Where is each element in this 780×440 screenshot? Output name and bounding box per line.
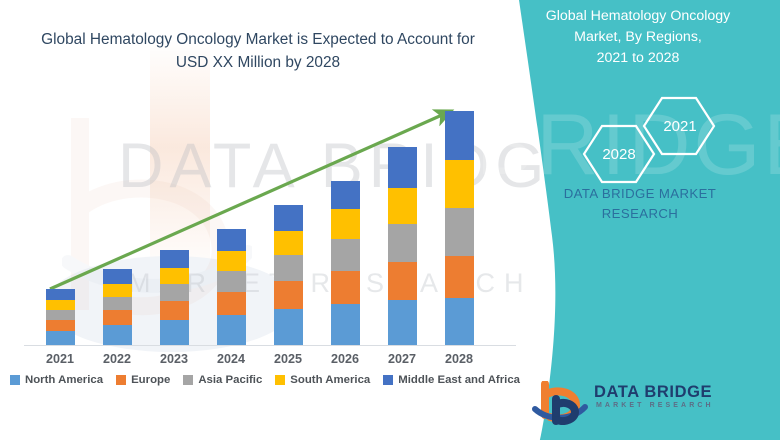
x-axis-tick-label: 2021 <box>30 352 90 366</box>
side-panel-brand-line-1: DATA BRIDGE MARKET <box>522 184 758 204</box>
bar-segment-middle-east-and-africa <box>160 250 189 268</box>
legend-label: South America <box>290 374 370 386</box>
x-axis-line <box>24 345 516 346</box>
bar-segment-middle-east-and-africa <box>217 229 246 251</box>
bar-segment-north-america <box>217 315 246 345</box>
x-axis-tick-label: 2028 <box>429 352 489 366</box>
bar-segment-south-america <box>388 188 417 224</box>
bar-group <box>217 229 246 345</box>
footer-logo-tagline: MARKET RESEARCH <box>596 402 714 409</box>
stacked-bar-chart: 2021 2022 2023 2024 2025 2026 2027 2028 … <box>0 0 530 400</box>
bar-segment-europe <box>103 310 132 325</box>
bar-segment-middle-east-and-africa <box>445 111 474 160</box>
hexagon-shapes-icon <box>566 88 756 198</box>
bar-segment-asia-pacific <box>388 224 417 262</box>
bar-segment-europe <box>445 256 474 298</box>
x-axis-tick-label: 2026 <box>315 352 375 366</box>
hexagon-label-2021: 2021 <box>658 118 702 135</box>
x-axis-tick-label: 2024 <box>201 352 261 366</box>
bar-segment-asia-pacific <box>46 310 75 320</box>
bar-group <box>274 205 303 345</box>
side-panel-title-line-3: 2021 to 2028 <box>514 48 762 69</box>
bar-segment-europe <box>274 281 303 309</box>
legend-swatch-icon <box>10 375 20 385</box>
bar-group <box>46 289 75 345</box>
bar-segment-north-america <box>46 331 75 345</box>
bar-group <box>331 181 360 345</box>
bar-segment-south-america <box>274 231 303 255</box>
bar-segment-europe <box>160 301 189 320</box>
footer-logo-name: DATA BRIDGE <box>594 383 712 402</box>
bar-segment-asia-pacific <box>274 255 303 281</box>
x-axis-tick-label: 2023 <box>144 352 204 366</box>
bar-segment-asia-pacific <box>160 284 189 301</box>
bar-group <box>445 111 474 345</box>
side-panel: BRIDGE Global Hematology Oncology Market… <box>490 0 780 440</box>
bar-segment-europe <box>46 320 75 331</box>
bar-group <box>160 250 189 345</box>
side-panel-brand-line-2: RESEARCH <box>522 204 758 224</box>
bar-segment-asia-pacific <box>445 208 474 256</box>
side-panel-brand: DATA BRIDGE MARKET RESEARCH <box>522 184 758 224</box>
data-bridge-logo-icon <box>532 381 588 425</box>
legend-swatch-icon <box>275 375 285 385</box>
bar-segment-north-america <box>103 325 132 345</box>
bar-segment-south-america <box>445 160 474 208</box>
bar-segment-south-america <box>160 268 189 284</box>
bar-segment-north-america <box>274 309 303 345</box>
side-panel-title-line-2: Market, By Regions, <box>514 27 762 48</box>
bar-segment-north-america <box>331 304 360 345</box>
side-panel-title: Global Hematology Oncology Market, By Re… <box>514 6 762 69</box>
legend-item-asia-pacific[interactable]: Asia Pacific <box>183 374 262 386</box>
infographic-canvas: DATA BRIDGE MARKET RESEARCH Global Hemat… <box>0 0 780 440</box>
legend-label: North America <box>25 374 103 386</box>
bar-segment-north-america <box>388 300 417 345</box>
bar-segment-europe <box>331 271 360 304</box>
legend-label: Asia Pacific <box>198 374 262 386</box>
bar-segment-south-america <box>331 209 360 239</box>
x-axis-tick-label: 2025 <box>258 352 318 366</box>
bar-group <box>103 269 132 345</box>
bar-segment-south-america <box>217 251 246 271</box>
bar-group <box>388 147 417 345</box>
bar-segment-middle-east-and-africa <box>103 269 132 284</box>
footer-logo: DATA BRIDGE MARKET RESEARCH <box>532 381 747 427</box>
bar-segment-europe <box>217 292 246 315</box>
bar-segment-asia-pacific <box>331 239 360 271</box>
bar-segment-europe <box>388 262 417 300</box>
bar-segment-asia-pacific <box>217 271 246 292</box>
bar-segment-middle-east-and-africa <box>46 289 75 300</box>
hexagon-label-2028: 2028 <box>597 146 641 163</box>
legend-swatch-icon <box>183 375 193 385</box>
bar-segment-middle-east-and-africa <box>274 205 303 231</box>
legend-label: Europe <box>131 374 170 386</box>
bar-segment-asia-pacific <box>103 297 132 310</box>
legend-swatch-icon <box>383 375 393 385</box>
bar-segment-south-america <box>103 284 132 297</box>
x-axis-tick-label: 2027 <box>372 352 432 366</box>
bar-segment-middle-east-and-africa <box>331 181 360 209</box>
side-panel-title-line-1: Global Hematology Oncology <box>514 6 762 27</box>
hexagon-badges: 2021 2028 <box>566 88 756 198</box>
bar-segment-north-america <box>160 320 189 345</box>
bar-segment-south-america <box>46 300 75 310</box>
chart-legend: North America Europe Asia Pacific South … <box>0 374 530 386</box>
legend-item-europe[interactable]: Europe <box>116 374 170 386</box>
legend-swatch-icon <box>116 375 126 385</box>
x-axis-tick-label: 2022 <box>87 352 147 366</box>
bar-segment-north-america <box>445 298 474 345</box>
legend-item-north-america[interactable]: North America <box>10 374 103 386</box>
bar-segment-middle-east-and-africa <box>388 147 417 188</box>
legend-item-south-america[interactable]: South America <box>275 374 370 386</box>
